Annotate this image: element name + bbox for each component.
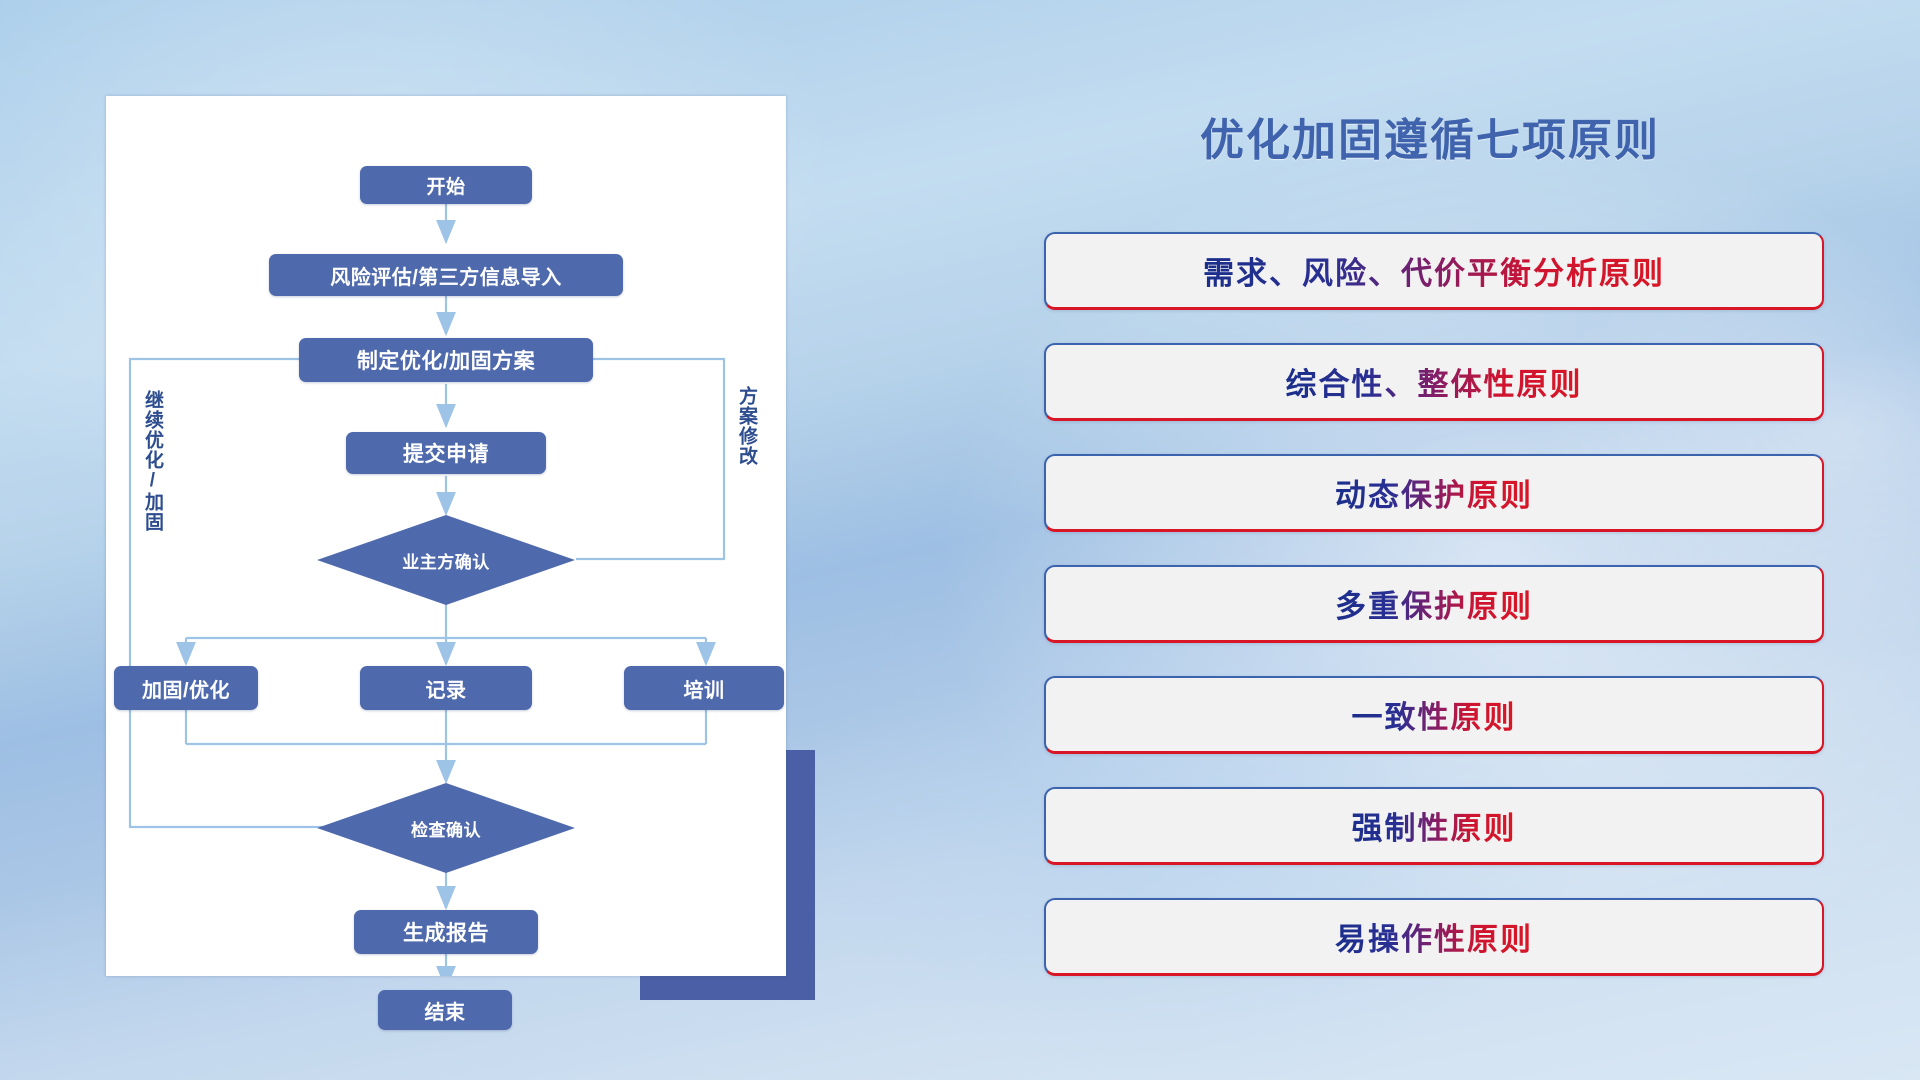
principle-card[interactable]: 需求、风险、代价平衡分析原则 — [1044, 232, 1824, 310]
slide-canvas: 开始 风险评估/第三方信息导入 制定优化/加固方案 提交申请 业主方确认 加固/… — [0, 0, 1920, 1080]
flow-node-risk-assessment-label: 风险评估/第三方信息导入 — [330, 261, 562, 290]
principle-card[interactable]: 强制性原则 — [1044, 787, 1824, 865]
flow-node-generate-report-label: 生成报告 — [403, 917, 489, 947]
diamond-shape-check-confirm — [316, 782, 576, 874]
principle-card-label: 一致性原则 — [1352, 692, 1517, 737]
flow-node-submit-application[interactable]: 提交申请 — [346, 432, 546, 474]
principle-card[interactable]: 综合性、整体性原则 — [1044, 343, 1824, 421]
flow-node-training[interactable]: 培训 — [624, 666, 784, 710]
flow-node-record-label: 记录 — [426, 674, 467, 703]
principles-card-list: 需求、风险、代价平衡分析原则 综合性、整体性原则 动态保护原则 多重保护原则 一… — [1044, 232, 1824, 1009]
flow-node-reinforce-optimize-label: 加固/优化 — [142, 674, 230, 703]
flow-node-risk-assessment[interactable]: 风险评估/第三方信息导入 — [269, 254, 623, 296]
principle-card-label: 强制性原则 — [1352, 803, 1517, 848]
flow-node-end-label: 结束 — [425, 996, 466, 1025]
principle-card[interactable]: 动态保护原则 — [1044, 454, 1824, 532]
flow-node-start-label: 开始 — [426, 172, 465, 199]
principle-card-label: 多重保护原则 — [1335, 581, 1533, 626]
flow-loop-label-right: 方案修改 — [736, 386, 756, 516]
principles-panel: 优化加固遵循七项原则 需求、风险、代价平衡分析原则 综合性、整体性原则 动态保护… — [1020, 0, 1840, 1080]
principle-card[interactable]: 一致性原则 — [1044, 676, 1824, 754]
diamond-shape-owner-confirm — [316, 514, 576, 606]
flow-node-end[interactable]: 结束 — [378, 990, 512, 1030]
principle-card-label: 需求、风险、代价平衡分析原则 — [1203, 248, 1665, 293]
flow-node-start[interactable]: 开始 — [360, 166, 532, 204]
flow-node-make-plan-label: 制定优化/加固方案 — [357, 345, 535, 375]
principle-card-label: 综合性、整体性原则 — [1286, 359, 1583, 404]
principle-card-label: 易操作性原则 — [1335, 914, 1533, 959]
flow-loop-label-left: 继续优化/加固 — [142, 390, 162, 570]
flow-node-record[interactable]: 记录 — [360, 666, 532, 710]
flowchart-panel: 开始 风险评估/第三方信息导入 制定优化/加固方案 提交申请 业主方确认 加固/… — [106, 96, 786, 976]
flow-decision-owner-confirm[interactable]: 业主方确认 — [316, 514, 576, 606]
flow-node-generate-report[interactable]: 生成报告 — [354, 910, 538, 954]
flow-node-submit-application-label: 提交申请 — [403, 438, 489, 468]
flow-node-training-label: 培训 — [684, 674, 725, 703]
principle-card-label: 动态保护原则 — [1335, 470, 1533, 515]
flow-node-make-plan[interactable]: 制定优化/加固方案 — [299, 338, 593, 382]
principle-card[interactable]: 多重保护原则 — [1044, 565, 1824, 643]
flow-decision-check-confirm[interactable]: 检查确认 — [316, 782, 576, 874]
page-title: 优化加固遵循七项原则 — [1020, 104, 1840, 168]
principle-card[interactable]: 易操作性原则 — [1044, 898, 1824, 976]
flow-node-reinforce-optimize[interactable]: 加固/优化 — [114, 666, 258, 710]
